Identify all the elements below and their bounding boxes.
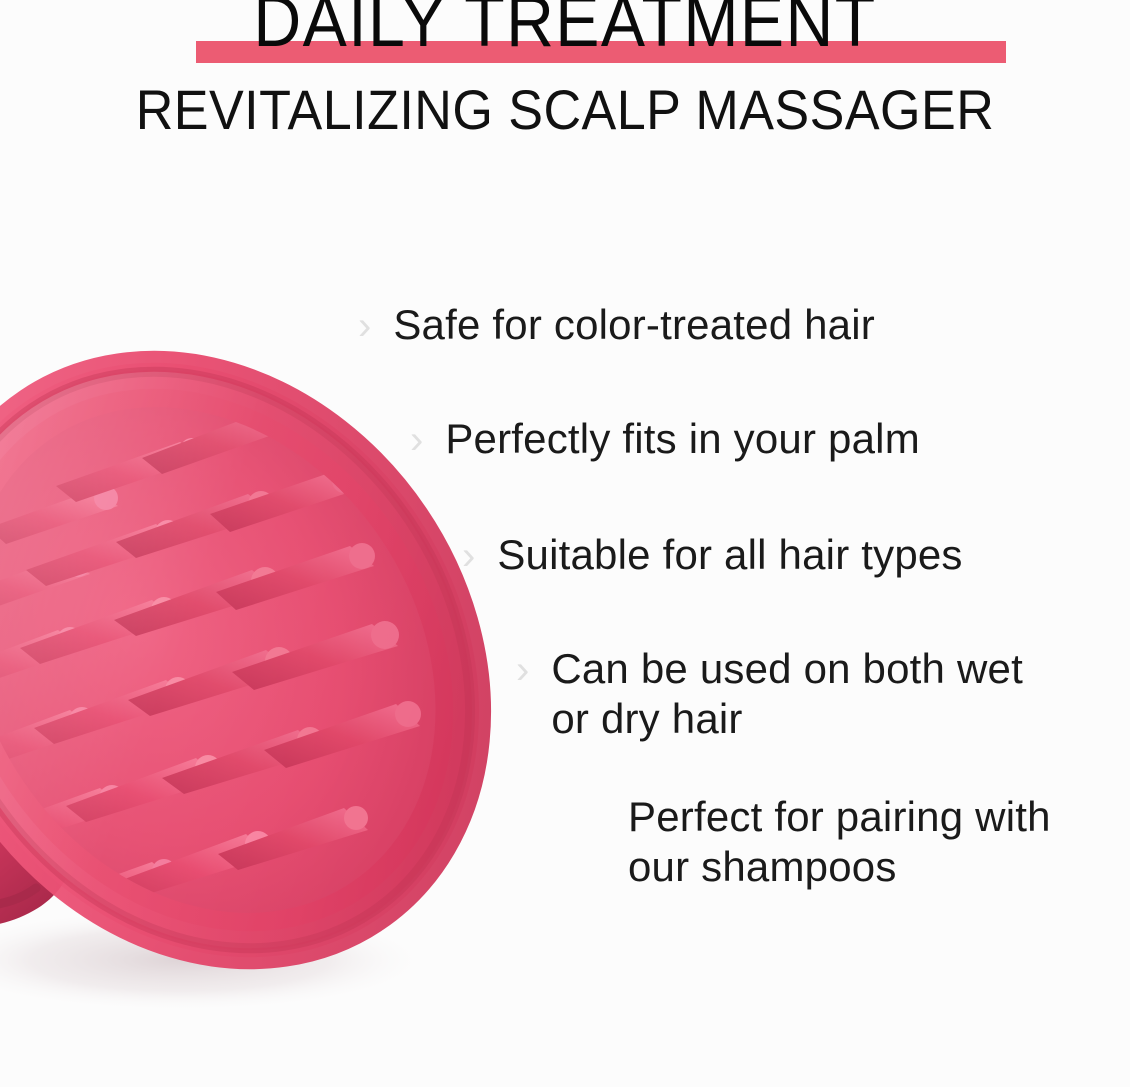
feature-text: Suitable for all hair types xyxy=(497,530,962,580)
page-title: DAILY TREATMENT xyxy=(45,0,1085,58)
feature-text: Can be used on both wet or dry hair xyxy=(551,644,1023,743)
page-subtitle: REVITALIZING SCALP MASSAGER xyxy=(40,82,1091,138)
feature-text: Perfect for pairing with our shampoos xyxy=(628,792,1051,891)
headline-block: DAILY TREATMENT xyxy=(0,0,1130,72)
product-image-scalp-massager xyxy=(0,330,560,1030)
product-feature-graphic: DAILY TREATMENT REVITALIZING SCALP MASSA… xyxy=(0,0,1130,1087)
list-item: Perfect for pairing with our shampoos xyxy=(628,792,1051,891)
list-item: › Can be used on both wet or dry hair xyxy=(516,644,1023,743)
header: DAILY TREATMENT REVITALIZING SCALP MASSA… xyxy=(0,0,1130,160)
